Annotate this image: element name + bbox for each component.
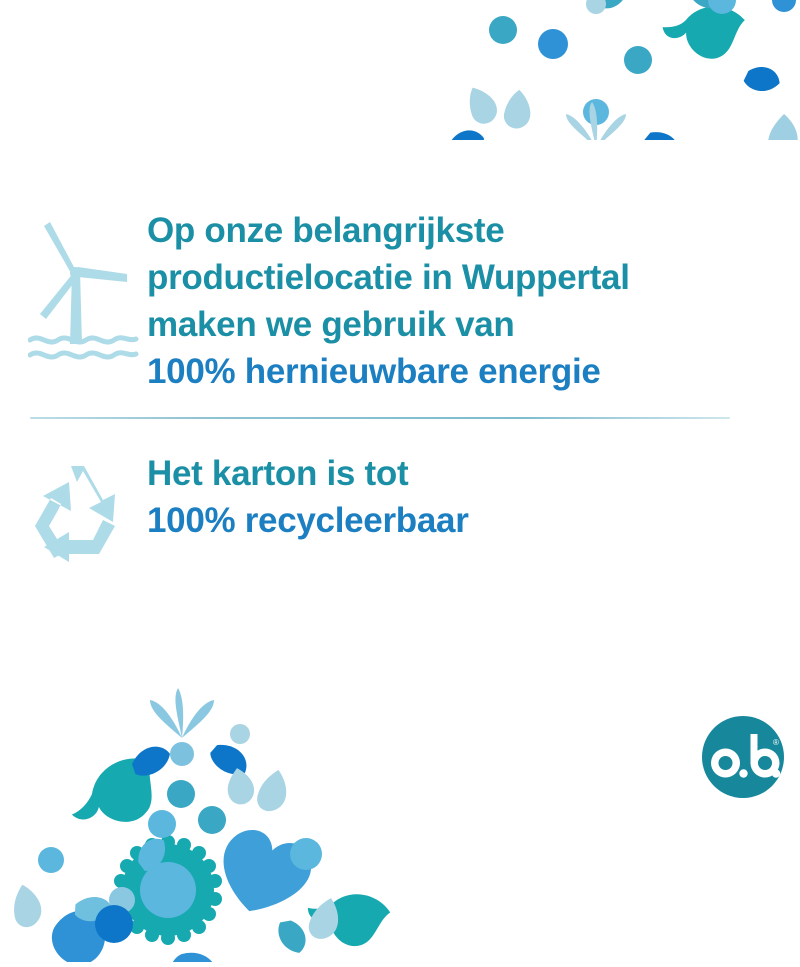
infographic-canvas: Op onze belangrijkste productielocatie i… bbox=[0, 0, 800, 800]
headline-line: maken we gebruik van bbox=[147, 301, 767, 348]
floral-pattern-top bbox=[398, 0, 798, 140]
wind-turbine-icon bbox=[28, 216, 140, 366]
headline-line-emphasis: 100% hernieuwbare energie bbox=[147, 348, 767, 395]
dot-shape bbox=[489, 0, 796, 125]
headline-line: Op onze belangrijkste bbox=[147, 207, 767, 254]
ob-logo[interactable]: ® bbox=[702, 716, 784, 798]
sprout-shape bbox=[566, 102, 626, 140]
flower-shape bbox=[114, 835, 222, 945]
recycle-icon bbox=[27, 458, 135, 563]
sprout-shape bbox=[150, 688, 214, 738]
tulip-shape bbox=[63, 754, 162, 833]
petal-shape bbox=[43, 902, 115, 962]
dot-shape bbox=[38, 724, 322, 943]
heart-shape bbox=[214, 825, 317, 922]
headline-line: Het karton is tot bbox=[147, 450, 707, 497]
headline-line: productielocatie in Wuppertal bbox=[147, 254, 767, 301]
teardrop-shape bbox=[463, 0, 779, 131]
floral-pattern-bottom-left bbox=[0, 672, 416, 962]
section-renewable-energy-text: Op onze belangrijkste productielocatie i… bbox=[147, 207, 767, 395]
small-leaf-shape bbox=[73, 739, 312, 958]
divider bbox=[30, 417, 730, 419]
tulip-shape bbox=[301, 874, 393, 956]
small-leaf-shape bbox=[443, 0, 781, 140]
heart-shape bbox=[418, 0, 510, 5]
logo-trademark: ® bbox=[773, 738, 779, 747]
teardrop-shape bbox=[9, 765, 345, 943]
petral-shape-2 bbox=[164, 948, 222, 962]
headline-line-emphasis: 100% recycleerbaar bbox=[147, 497, 707, 544]
water-waves bbox=[30, 338, 136, 357]
tulip-shape bbox=[658, 0, 747, 66]
section-recyclable-carton-text: Het karton is tot 100% recycleerbaar bbox=[147, 450, 707, 544]
